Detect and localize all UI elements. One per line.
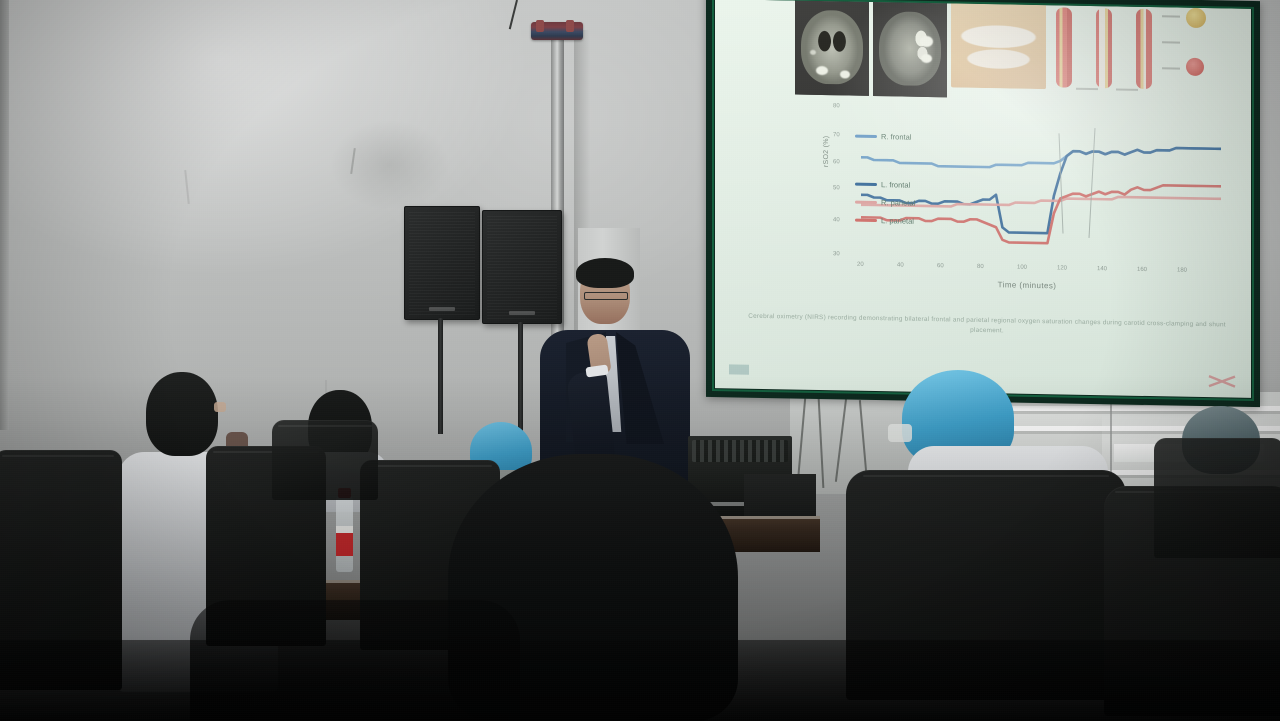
diagram-leader-line bbox=[1116, 88, 1138, 90]
legend-label: R. frontal bbox=[881, 132, 911, 142]
x-tick-label: 140 bbox=[1097, 266, 1107, 272]
auditorium-chair[interactable] bbox=[1154, 438, 1280, 558]
attendee-head bbox=[146, 372, 218, 456]
x-tick-label: 80 bbox=[977, 264, 984, 270]
x-tick-label: 160 bbox=[1137, 267, 1147, 273]
water-bottle[interactable] bbox=[336, 496, 353, 572]
legend-swatch bbox=[855, 219, 877, 222]
diagram-leader-line bbox=[1162, 67, 1180, 69]
chair-highlight bbox=[863, 475, 1109, 477]
legend-item-l-frontal: L. frontal bbox=[855, 180, 910, 190]
y-tick-label: 40 bbox=[833, 217, 840, 223]
mri-lesion bbox=[920, 36, 933, 47]
legend-swatch bbox=[855, 183, 877, 186]
legend-item-r-parietal: R. parietal bbox=[855, 198, 915, 208]
artery-illustration bbox=[1096, 8, 1112, 88]
left-speaker bbox=[404, 206, 480, 320]
rso2-trend-chart: rSO2 (%) 80 70 60 50 40 30 bbox=[827, 105, 1227, 302]
x-tick-label: 100 bbox=[1017, 265, 1027, 271]
mri-lesion bbox=[810, 50, 816, 55]
speaker-logo bbox=[429, 307, 455, 311]
slide-caption: Cerebral oximetry (NIRS) recording demon… bbox=[737, 311, 1237, 340]
right-speaker bbox=[482, 210, 562, 324]
presenter-hair bbox=[576, 258, 634, 288]
chair-highlight bbox=[368, 465, 491, 467]
bottle-label-highlight bbox=[336, 526, 353, 533]
slide-image-row bbox=[795, 0, 1225, 104]
screen-red-mark bbox=[1207, 373, 1237, 390]
legend-item-r-frontal: R. frontal bbox=[855, 132, 911, 142]
legend-label: R. parietal bbox=[881, 198, 915, 208]
speaker-grille bbox=[487, 215, 557, 319]
diagram-leader-line bbox=[1162, 15, 1180, 17]
legend-item-l-parietal: L. parietal bbox=[855, 216, 914, 226]
chart-plot-area bbox=[861, 110, 1221, 267]
chair-highlight bbox=[278, 425, 371, 427]
projection-screen-surface: rSO2 (%) 80 70 60 50 40 30 bbox=[715, 0, 1251, 398]
legend-label: L. parietal bbox=[881, 216, 914, 226]
y-tick-label: 70 bbox=[833, 132, 840, 138]
x-tick-label: 60 bbox=[937, 263, 944, 269]
brain-icon bbox=[879, 11, 941, 86]
mri-lesion bbox=[921, 54, 932, 63]
glasses-icon bbox=[888, 424, 912, 442]
left-speaker-stand bbox=[438, 318, 443, 434]
mri-lesion bbox=[840, 70, 850, 78]
attendee-dark-hair-center bbox=[448, 454, 738, 721]
legend-swatch bbox=[855, 201, 877, 204]
presentation-slide: rSO2 (%) 80 70 60 50 40 30 bbox=[715, 0, 1251, 398]
chart-svg bbox=[861, 110, 1221, 267]
auditorium-chair[interactable] bbox=[846, 470, 1126, 700]
chair-highlight bbox=[2, 455, 115, 457]
right-speaker-stand bbox=[518, 322, 523, 434]
diagram-leader-line bbox=[1162, 41, 1180, 43]
lecture-hall-photo: rSO2 (%) 80 70 60 50 40 30 bbox=[0, 0, 1280, 721]
wall-blemish bbox=[330, 120, 450, 210]
y-tick-label: 30 bbox=[833, 251, 840, 257]
diagram-leader-line bbox=[1076, 88, 1098, 90]
x-tick-label: 120 bbox=[1057, 265, 1067, 271]
y-tick-label: 60 bbox=[833, 159, 840, 165]
chart-x-axis-label: Time (minutes) bbox=[827, 277, 1227, 293]
thrombus-cross-section bbox=[1186, 58, 1204, 76]
artery-illustration bbox=[1056, 7, 1072, 87]
mri-lesion bbox=[816, 66, 828, 75]
screen-corner-tab bbox=[729, 364, 749, 374]
brain-mri-image bbox=[795, 0, 869, 96]
projection-screen: rSO2 (%) 80 70 60 50 40 30 bbox=[706, 0, 1260, 407]
x-tick-label: 180 bbox=[1177, 268, 1187, 274]
pipe-fitting-red bbox=[536, 20, 544, 32]
x-tick-label: 20 bbox=[857, 262, 864, 268]
pipe-fitting-red bbox=[566, 20, 574, 32]
auditorium-chair[interactable] bbox=[0, 450, 122, 690]
mixer-knob-row[interactable] bbox=[692, 440, 788, 462]
y-tick-label: 80 bbox=[833, 103, 840, 109]
legend-swatch bbox=[855, 135, 877, 138]
artery-illustration bbox=[1136, 9, 1152, 89]
surgical-field-photo bbox=[951, 1, 1046, 89]
brain-mri-image bbox=[873, 0, 947, 97]
brain-icon bbox=[801, 10, 863, 85]
speaker-logo bbox=[509, 311, 535, 315]
wall-left-edge bbox=[0, 0, 9, 430]
glasses-icon bbox=[584, 292, 628, 300]
legend-label: L. frontal bbox=[881, 180, 910, 190]
x-tick-label: 40 bbox=[897, 262, 904, 268]
y-tick-label: 50 bbox=[833, 185, 840, 191]
speaker-grille bbox=[409, 211, 475, 315]
attendee-ear bbox=[214, 402, 226, 412]
auditorium-chair[interactable] bbox=[272, 420, 378, 500]
chart-y-axis-label: rSO2 (%) bbox=[823, 107, 830, 167]
vessel-cross-section bbox=[1186, 8, 1206, 28]
carotid-artery-diagram bbox=[1050, 3, 1225, 98]
